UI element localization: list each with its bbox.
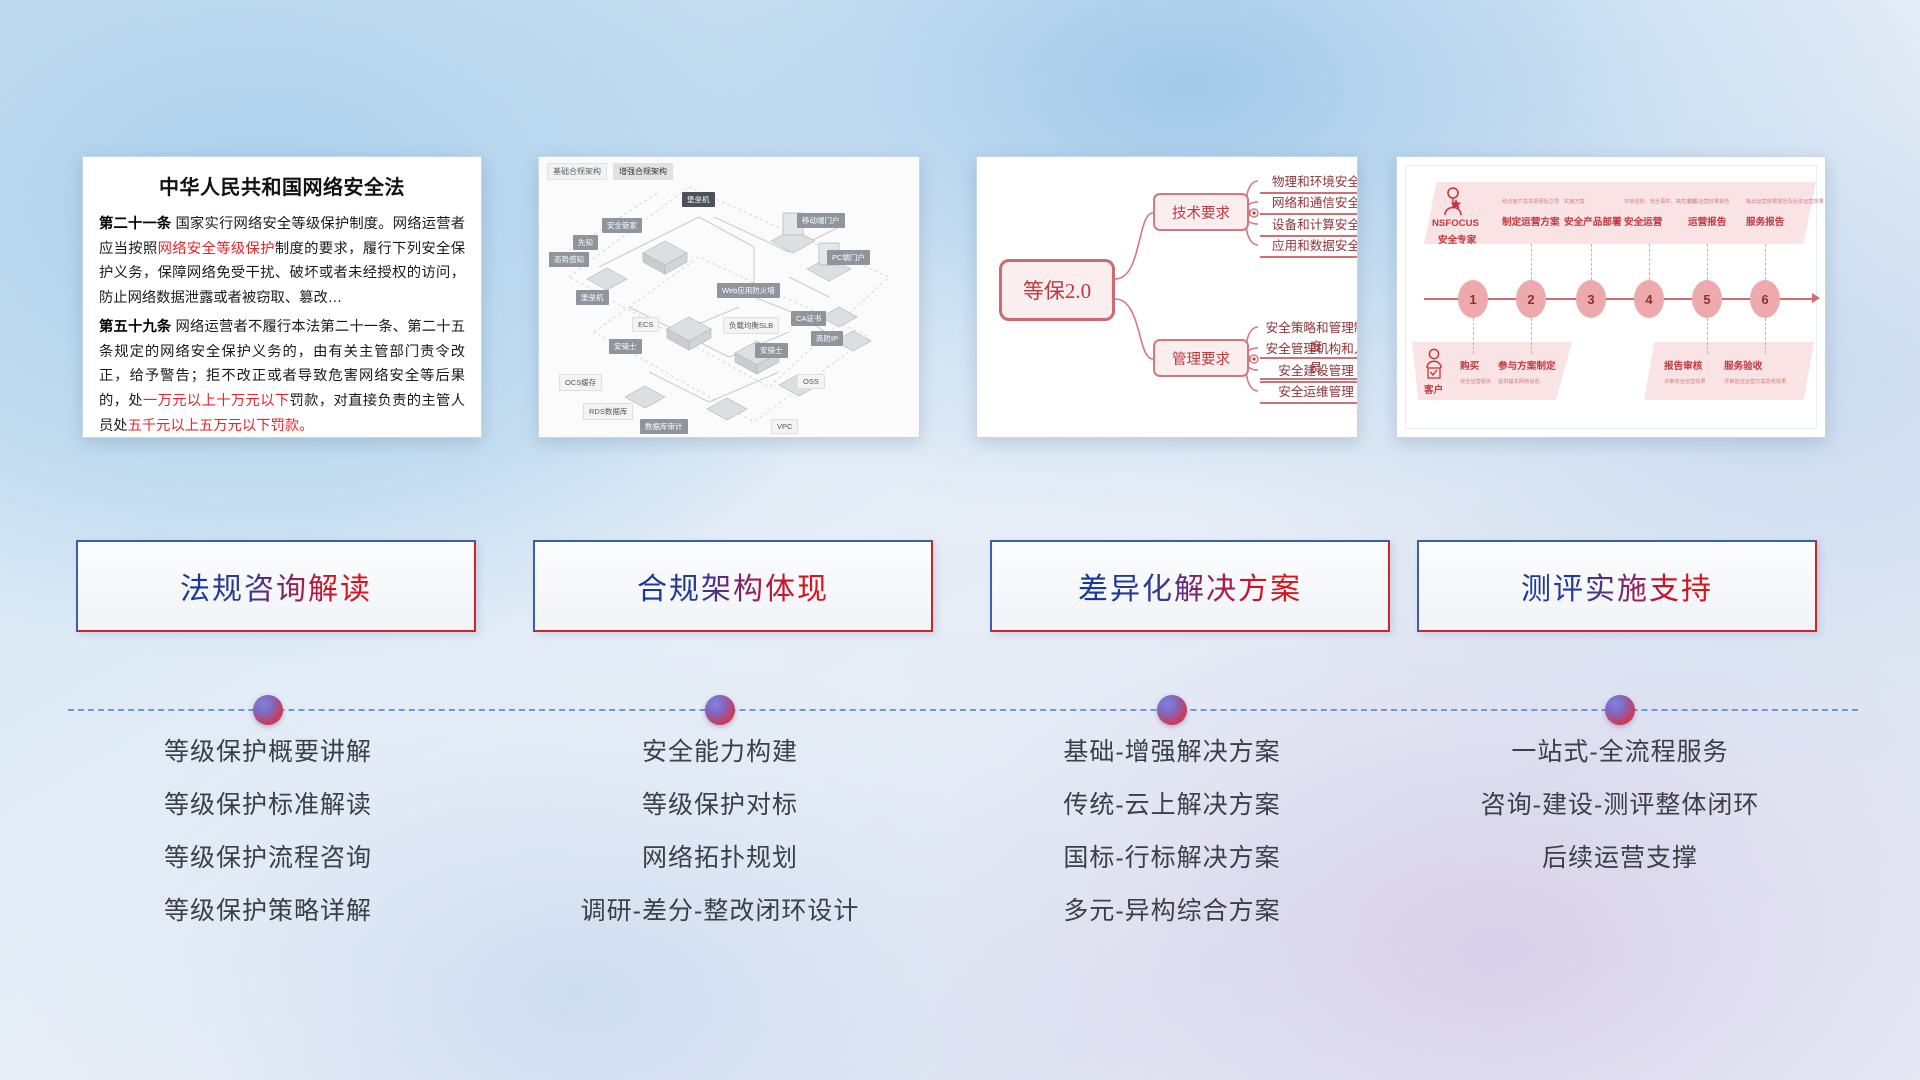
- mindmap-branch-technical: 技术要求: [1153, 193, 1249, 231]
- nsfocus-dash-connector: [1531, 244, 1532, 280]
- law-highlight-text: 一万元以上十万元以下: [143, 393, 290, 409]
- detail-column-1: 等级保护概要讲解等级保护标准解读等级保护流程咨询等级保护策略详解: [68, 740, 468, 952]
- column-item: 一站式-全流程服务: [1420, 740, 1820, 765]
- architecture-node-label: Web应用防火墙: [717, 283, 780, 298]
- nsfocus-frame: NSFOCUS 安全专家 客户 制定运营方案结合客户需求调研后立项安全产品部署实…: [1405, 165, 1817, 429]
- architecture-node-label: 安全管家: [602, 218, 642, 233]
- architecture-tab-0[interactable]: 基础合规架构: [547, 163, 607, 180]
- pill-assessment-support[interactable]: 测评实施支持: [1417, 540, 1817, 632]
- column-item: 网络拓扑规划: [520, 846, 920, 871]
- mindmap-branch-management: 管理要求: [1153, 339, 1249, 377]
- column-item: 传统-云上解决方案: [972, 793, 1372, 818]
- nsfocus-top-sub: 实施方案: [1564, 198, 1585, 205]
- law-highlight-text: 网络安全等级保护: [158, 241, 275, 257]
- nsfocus-timeline-card[interactable]: NSFOCUS 安全专家 客户 制定运营方案结合客户需求调研后立项安全产品部署实…: [1396, 156, 1826, 438]
- timeline-rail: [0, 690, 1920, 730]
- nsfocus-dash-connector: [1707, 244, 1708, 280]
- mindmap-leaf: 设备和计算安全: [1260, 214, 1358, 237]
- nsfocus-top-title: 安全运营: [1624, 214, 1662, 228]
- nsfocus-bottom-title: 购买: [1460, 358, 1479, 372]
- nsfocus-dash-connector: [1591, 244, 1592, 280]
- expert-person-icon: [1440, 186, 1466, 216]
- nsfocus-bottom-sub: 安全运营服务: [1460, 378, 1491, 385]
- column-item: 等级保护对标: [520, 793, 920, 818]
- nsfocus-step-node-4[interactable]: 4: [1634, 280, 1664, 318]
- architecture-node-label: OSS: [797, 374, 825, 389]
- nsfocus-step-node-1[interactable]: 1: [1458, 280, 1488, 318]
- column-item: 等级保护概要讲解: [68, 740, 468, 765]
- law-card-body: 第二十一条 国家实行网络安全等级保护制度。网络运营者应当按照网络安全等级保护制度…: [99, 212, 465, 438]
- nsfocus-bottom-title: 参与方案制定: [1498, 358, 1556, 372]
- architecture-tab-row[interactable]: 基础合规架构增强合规架构: [547, 163, 673, 180]
- architecture-node-label: 数据库审计: [640, 419, 688, 434]
- column-item: 等级保护策略详解: [68, 899, 468, 924]
- architecture-node-label: VPC: [771, 419, 798, 434]
- rail-dashed-line: [68, 709, 1858, 711]
- nsfocus-top-sub: 阶段运营效果报告: [1688, 198, 1730, 205]
- column-item: 安全能力构建: [520, 740, 920, 765]
- detail-column-3: 基础-增强解决方案传统-云上解决方案国标-行标解决方案多元-异构综合方案: [972, 740, 1372, 952]
- architecture-node-label: CA证书: [791, 311, 826, 326]
- pill-differentiated-solution[interactable]: 差异化解决方案: [990, 540, 1390, 632]
- pill-label: 差异化解决方案: [1078, 564, 1302, 608]
- law-paragraph: 第五十九条 网络运营者不履行本法第二十一条、第二十五条规定的网络安全保护义务的，…: [99, 315, 465, 438]
- top-card-strip: 中华人民共和国网络安全法 第二十一条 国家实行网络安全等级保护制度。网络运营者应…: [0, 0, 1920, 460]
- architecture-node-label: RDS数据库: [583, 403, 633, 420]
- architecture-node-label: 高防IP: [811, 331, 843, 346]
- nsfocus-step-node-3[interactable]: 3: [1576, 280, 1606, 318]
- nsfocus-dash-connector: [1531, 318, 1532, 354]
- nsfocus-bottom-sub: 评审安全运营效果: [1664, 378, 1706, 385]
- nsfocus-bottom-title: 报告审核: [1664, 358, 1702, 372]
- detail-column-row: 等级保护概要讲解等级保护标准解读等级保护流程咨询等级保护策略详解 安全能力构建等…: [0, 740, 1920, 1000]
- nsfocus-top-title: 运营报告: [1688, 214, 1726, 228]
- nsfocus-step-node-5[interactable]: 5: [1692, 280, 1722, 318]
- column-item: 等级保护流程咨询: [68, 846, 468, 871]
- mindmap-canvas: 等保2.0 技术要求 管理要求 物理和环境安全网络和通信安全设备和计算安全应用和…: [977, 157, 1357, 437]
- nsfocus-dash-connector: [1473, 318, 1474, 354]
- column-item: 等级保护标准解读: [68, 793, 468, 818]
- law-card-title: 中华人民共和国网络安全法: [99, 171, 465, 200]
- nsfocus-bottom-title: 服务验收: [1724, 358, 1762, 372]
- nsfocus-dash-connector: [1649, 244, 1650, 280]
- mindmap-leaf: 物理和环境安全: [1260, 171, 1358, 194]
- architecture-canvas: 基础合规架构增强合规架构: [539, 157, 919, 437]
- column-item: 调研-差分-整改闭环设计: [520, 899, 920, 924]
- pill-label: 法规咨询解读: [180, 564, 372, 608]
- nsfocus-dash-connector: [1707, 318, 1708, 354]
- pill-label: 合规架构体现: [637, 564, 829, 608]
- nsfocus-step-node-2[interactable]: 2: [1516, 280, 1546, 318]
- headline-pill-row: 法规咨询解读 合规架构体现 差异化解决方案 测评实施支持: [0, 540, 1920, 640]
- nsfocus-brand-sub: 安全专家: [1438, 232, 1476, 246]
- architecture-node-label: PC端门户: [827, 250, 870, 265]
- law-article-number: 第五十九条: [99, 319, 171, 335]
- mindmap-root-node: 等保2.0: [999, 259, 1115, 321]
- architecture-node-label: 移动端门户: [797, 213, 845, 228]
- law-article-number: 第二十一条: [99, 216, 171, 232]
- nsfocus-top-title: 制定运营方案: [1502, 214, 1560, 228]
- architecture-node-label: 堡垒机: [576, 290, 609, 305]
- law-highlight-text: 五千元以上五万元以下罚款。: [128, 418, 314, 434]
- architecture-node-label: ECS: [632, 317, 659, 332]
- nsfocus-dash-connector: [1765, 318, 1766, 354]
- architecture-node-label: OCS缓存: [559, 374, 602, 391]
- nsfocus-customer-label: 客户: [1424, 382, 1443, 396]
- nsfocus-top-sub: 输出运营效果报告及后本运营效果: [1746, 198, 1824, 205]
- customer-person-icon: [1422, 348, 1446, 382]
- rail-dot-2[interactable]: [705, 695, 735, 725]
- rail-dot-4[interactable]: [1605, 695, 1635, 725]
- nsfocus-top-band: [1424, 182, 1816, 244]
- column-item: 咨询-建设-测评整体闭环: [1420, 793, 1820, 818]
- architecture-node-label: 堡垒机: [682, 192, 715, 207]
- nsfocus-brand: NSFOCUS: [1432, 218, 1479, 229]
- nsfocus-bottom-sub: 提供基本网络信息: [1498, 378, 1540, 385]
- nsfocus-dash-connector: [1765, 244, 1766, 280]
- nsfocus-axis-arrow: [1812, 293, 1820, 303]
- detail-column-4: 一站式-全流程服务咨询-建设-测评整体闭环后续运营支撑: [1420, 740, 1820, 899]
- nsfocus-top-title: 安全产品部署: [1564, 214, 1622, 228]
- nsfocus-top-title: 服务报告: [1746, 214, 1784, 228]
- architecture-node-label: 态势感知: [549, 252, 589, 267]
- detail-column-2: 安全能力构建等级保护对标网络拓扑规划调研-差分-整改闭环设计: [520, 740, 920, 952]
- architecture-tab-1[interactable]: 增强合规架构: [613, 163, 673, 180]
- mindmap-leaf: 网络和通信安全: [1260, 192, 1358, 215]
- mindmap-leaf: 应用和数据安全: [1260, 235, 1358, 258]
- nsfocus-bottom-sub: 评审验证运营方案验收效果: [1724, 378, 1786, 385]
- pill-compliance-architecture[interactable]: 合规架构体现: [533, 540, 933, 632]
- pill-label: 测评实施支持: [1521, 564, 1713, 608]
- architecture-node-label: 安骑士: [755, 343, 788, 358]
- nsfocus-canvas: NSFOCUS 安全专家 客户 制定运营方案结合客户需求调研后立项安全产品部署实…: [1397, 157, 1825, 437]
- rail-dot-1[interactable]: [253, 695, 283, 725]
- column-item: 基础-增强解决方案: [972, 740, 1372, 765]
- architecture-node-label: 安骑士: [609, 339, 642, 354]
- pill-regulation-consulting[interactable]: 法规咨询解读: [76, 540, 476, 632]
- nsfocus-top-sub: 日常巡检、安全事件、高危处置: [1624, 198, 1697, 205]
- column-item: 后续运营支撑: [1420, 846, 1820, 871]
- nsfocus-step-node-6[interactable]: 6: [1750, 280, 1780, 318]
- architecture-diagram-card[interactable]: 基础合规架构增强合规架构: [538, 156, 920, 438]
- architecture-node-label: 负载均衡SLB: [723, 317, 779, 334]
- law-text-card[interactable]: 中华人民共和国网络安全法 第二十一条 国家实行网络安全等级保护制度。网络运营者应…: [82, 156, 482, 438]
- column-item: 国标-行标解决方案: [972, 846, 1372, 871]
- mindmap-card[interactable]: 等保2.0 技术要求 管理要求 物理和环境安全网络和通信安全设备和计算安全应用和…: [976, 156, 1358, 438]
- nsfocus-top-sub: 结合客户需求调研后立项: [1502, 198, 1559, 205]
- column-item: 多元-异构综合方案: [972, 899, 1372, 924]
- mindmap-leaf: 安全建设管理: [1260, 360, 1358, 383]
- law-paragraph: 第二十一条 国家实行网络安全等级保护制度。网络运营者应当按照网络安全等级保护制度…: [99, 212, 465, 310]
- rail-dot-3[interactable]: [1157, 695, 1187, 725]
- architecture-node-label: 先知: [573, 235, 598, 250]
- mindmap-leaf: 安全运维管理: [1260, 381, 1358, 404]
